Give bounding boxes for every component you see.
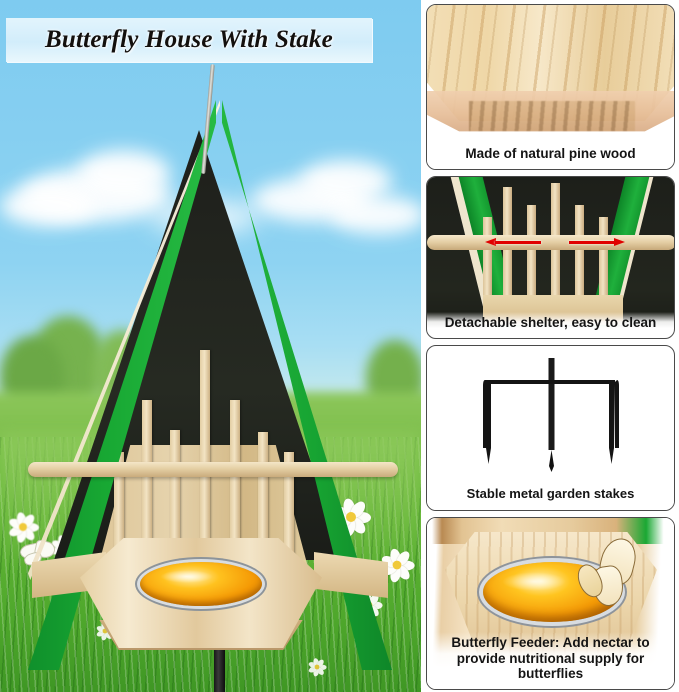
butterfly-house <box>18 100 408 670</box>
panel-butterfly-feeder: Butterfly Feeder: Add nectar to provide … <box>426 517 675 690</box>
arrow-left-icon <box>485 238 541 247</box>
panel-caption: Detachable shelter, easy to clean <box>427 312 674 338</box>
nectar-dish <box>140 562 262 606</box>
panel-caption: Made of natural pine wood <box>427 143 674 169</box>
panel-pine-wood: Made of natural pine wood <box>426 4 675 170</box>
base-wing-right <box>314 552 388 598</box>
product-infographic: Butterfly House With Stake Made of natur… <box>0 0 679 692</box>
perch-dowel <box>28 462 398 477</box>
feature-panel-list: Made of natural pine wood <box>426 4 675 690</box>
page-title: Butterfly House With Stake <box>6 18 372 62</box>
hero-product-photo: Butterfly House With Stake <box>0 0 421 692</box>
panel-caption: Butterfly Feeder: Add nectar to provide … <box>427 632 674 689</box>
title-banner: Butterfly House With Stake <box>6 18 372 62</box>
arrow-right-icon <box>569 238 625 247</box>
perch-dowel <box>427 235 674 250</box>
butterfly-icon <box>575 536 655 614</box>
panel-detachable-shelter: Detachable shelter, easy to clean <box>426 176 675 339</box>
pine-board-shadow-band <box>469 101 635 131</box>
panel-garden-stakes: Stable metal garden stakes <box>426 345 675 511</box>
panel-caption: Stable metal garden stakes <box>427 483 674 510</box>
stake-icon <box>427 354 674 474</box>
